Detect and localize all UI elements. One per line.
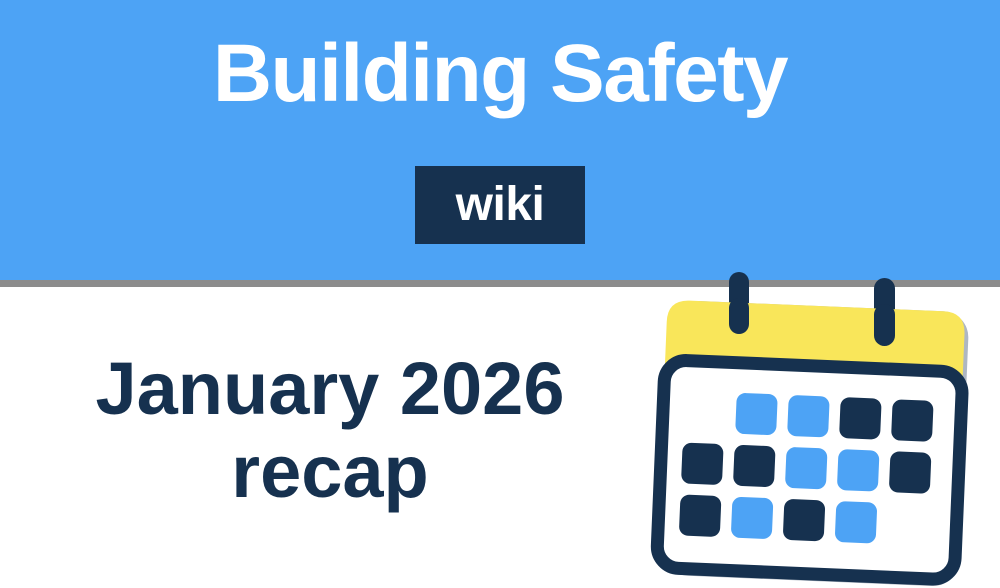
calendar-day-cell bbox=[783, 499, 826, 542]
poster-canvas: Building Safety wiki January 2026 recap bbox=[0, 0, 1000, 588]
recap-headline-line-1: January 2026 bbox=[0, 348, 660, 431]
calendar-day-cell bbox=[891, 399, 934, 442]
calendar-icon bbox=[630, 258, 1000, 588]
wiki-badge: wiki bbox=[415, 166, 585, 244]
calendar-day-cell bbox=[837, 449, 880, 492]
calendar-day-cell bbox=[785, 447, 828, 490]
calendar-day-cell bbox=[835, 501, 878, 544]
calendar-body bbox=[656, 300, 969, 587]
calendar-day-cell bbox=[733, 445, 776, 488]
calendar-day-cell bbox=[681, 442, 724, 485]
calendar-illustration bbox=[630, 258, 1000, 588]
calendar-day-cell bbox=[889, 451, 932, 494]
wiki-badge-label: wiki bbox=[456, 181, 545, 229]
calendar-day-cell bbox=[731, 497, 774, 540]
calendar-day-cell bbox=[735, 393, 778, 436]
page-title: Building Safety bbox=[0, 33, 1000, 115]
recap-headline-line-2: recap bbox=[0, 431, 660, 514]
recap-headline: January 2026 recap bbox=[0, 348, 660, 514]
calendar-day-cell bbox=[839, 397, 882, 440]
calendar-day-cell bbox=[679, 494, 722, 537]
calendar-day-cell bbox=[787, 395, 830, 438]
